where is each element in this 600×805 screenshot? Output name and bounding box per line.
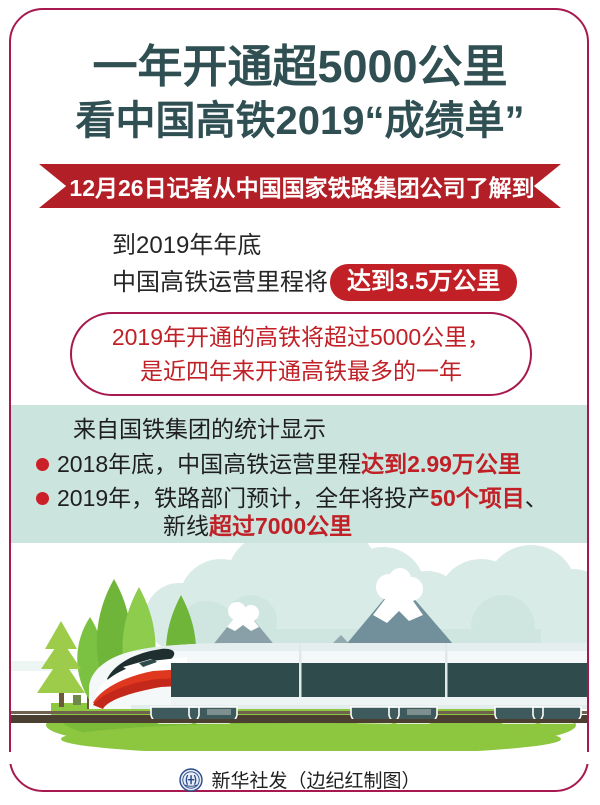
callout-line-1: 2019年开通的高铁将超过5000公里，	[112, 320, 490, 354]
footer-credit: 新华社发（边纪红制图）	[0, 766, 600, 793]
bullet-emphasis: 50个项目	[430, 485, 525, 511]
status-badge: 达到3.5万公里	[330, 264, 517, 301]
bullet-wrap-emphasis: 超过7000公里	[209, 513, 352, 539]
xinhua-emblem-icon	[179, 768, 203, 792]
bullet-text: 2018年底，中国高铁运营里程达到2.99万公里	[57, 449, 521, 480]
infographic-poster: 来自国铁集团的统计显示 2018年底，中国高铁运营里程达到2.99万公里 201…	[0, 0, 600, 805]
credit-text: 新华社发（边纪红制图）	[211, 766, 420, 793]
stat-line-2: 中国高铁运营里程将 达到3.5万公里	[112, 264, 517, 301]
bullet-text: 2019年，铁路部门预计，全年将投产50个项目、	[57, 483, 548, 514]
headline-line-2: 看中国高铁2019“成绩单”	[0, 96, 600, 146]
headline-line-1: 一年开通超5000公里	[0, 42, 600, 92]
bullet-plain-tail: 、	[525, 485, 548, 511]
list-item: 2018年底，中国高铁运营里程达到2.99万公里	[36, 449, 521, 480]
callout-box: 2019年开通的高铁将超过5000公里， 是近四年来开通高铁最多的一年	[70, 312, 532, 396]
border-gap-mask	[0, 752, 600, 764]
bullet-dot-icon	[36, 458, 49, 471]
stat-line-1: 到2019年年底	[112, 228, 517, 264]
bullet-dot-icon	[36, 492, 49, 505]
page-title: 一年开通超5000公里 看中国高铁2019“成绩单”	[0, 42, 600, 146]
train-landscape-illustration	[11, 543, 589, 751]
callout-line-2: 是近四年来开通高铁最多的一年	[140, 354, 462, 388]
bullet-plain: 2019年，铁路部门预计，全年将投产	[57, 485, 430, 511]
bullet-plain: 2018年底，中国高铁运营里程	[57, 451, 361, 477]
statistics-band: 来自国铁集团的统计显示 2018年底，中国高铁运营里程达到2.99万公里 201…	[11, 405, 587, 543]
headline-stat-block: 到2019年年底 中国高铁运营里程将 达到3.5万公里	[112, 228, 517, 301]
ribbon-shape: 12月26日记者从中国国家铁路集团公司了解到	[39, 164, 561, 208]
ribbon-label: 12月26日记者从中国国家铁路集团公司了解到	[65, 169, 534, 203]
bullet-emphasis: 达到2.99万公里	[361, 451, 521, 477]
band-heading: 来自国铁集团的统计显示	[73, 414, 326, 444]
bullet-wrap-line: 新线超过7000公里	[163, 511, 352, 542]
stat-line-1-text: 到2019年年底	[112, 228, 261, 264]
list-item: 2019年，铁路部门预计，全年将投产50个项目、	[36, 483, 548, 514]
bullet-wrap-plain: 新线	[163, 513, 209, 539]
stat-line-2-prefix: 中国高铁运营里程将	[112, 265, 328, 301]
source-ribbon: 12月26日记者从中国国家铁路集团公司了解到	[39, 164, 561, 208]
